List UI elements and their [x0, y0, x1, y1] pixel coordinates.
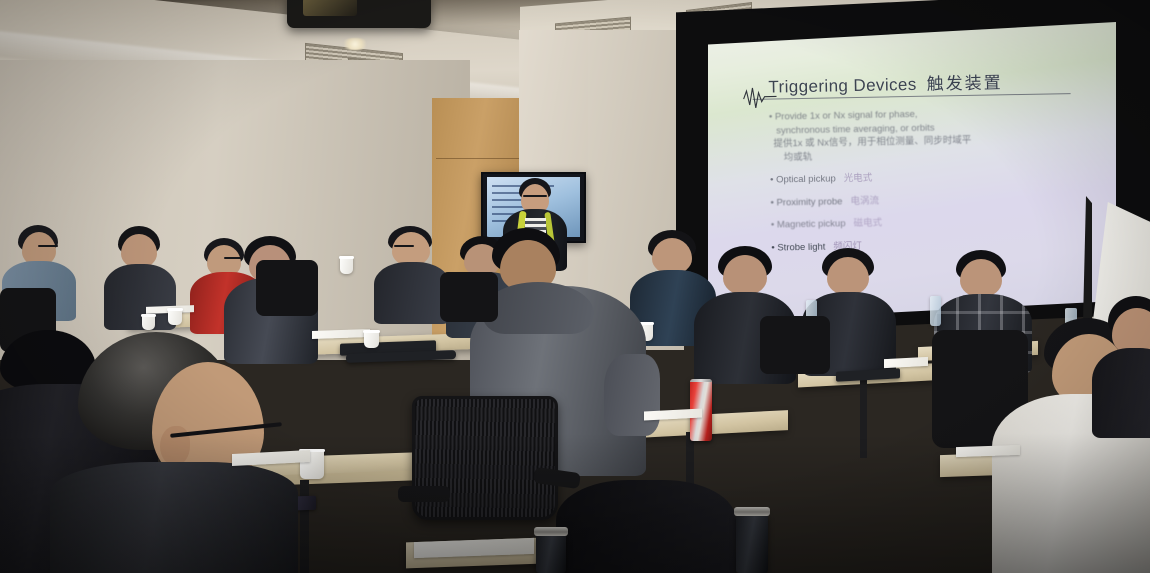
paper-cup-left-3	[340, 256, 353, 274]
slide-item-optical-pickup: • Optical pickup光电式	[770, 168, 1070, 187]
thermos-flask-front[interactable]	[736, 514, 768, 573]
thermos-lid-2	[534, 527, 568, 536]
desk-leg-front-left	[300, 480, 309, 573]
slide-item-proximity-probe: • Proximity probe电涡流	[770, 191, 1070, 210]
slide-item-strobe-light: • Strobe light频闪灯	[771, 236, 1071, 255]
thermos-flask-second[interactable]	[536, 534, 566, 573]
projection-screen[interactable]: Triggering Devices触发装置 • Provide 1x or N…	[708, 22, 1116, 322]
water-bottle-right-1	[930, 296, 941, 326]
slide-body: • Provide 1x or Nx signal for phase, syn…	[769, 105, 1072, 254]
waveform-icon	[742, 84, 776, 111]
downlight-1	[340, 38, 370, 50]
chair-arm-left[interactable]	[398, 486, 450, 502]
office-chair-mid-center[interactable]	[440, 272, 498, 322]
paper-cup-left-1	[168, 308, 182, 325]
presenter-glasses	[523, 195, 547, 197]
paper-cup-mid	[364, 330, 379, 348]
office-chair-mid-left[interactable]	[256, 260, 318, 316]
slide-item-magnetic-pickup: • Magnetic pickup磁电式	[771, 213, 1071, 232]
office-chair-back-right[interactable]	[760, 316, 830, 374]
paper-cup-left-2	[142, 314, 155, 330]
classroom-photo-scene: Triggering Devices触发装置 • Provide 1x or N…	[0, 0, 1150, 573]
thermos-lid	[734, 507, 770, 516]
front-attendee-torso	[50, 462, 298, 573]
grey-hoodie-arm	[604, 354, 660, 436]
desk-leg-back-right	[860, 380, 867, 458]
slide-title: Triggering Devices触发装置	[768, 68, 1003, 97]
ceiling-projector	[287, 0, 431, 28]
